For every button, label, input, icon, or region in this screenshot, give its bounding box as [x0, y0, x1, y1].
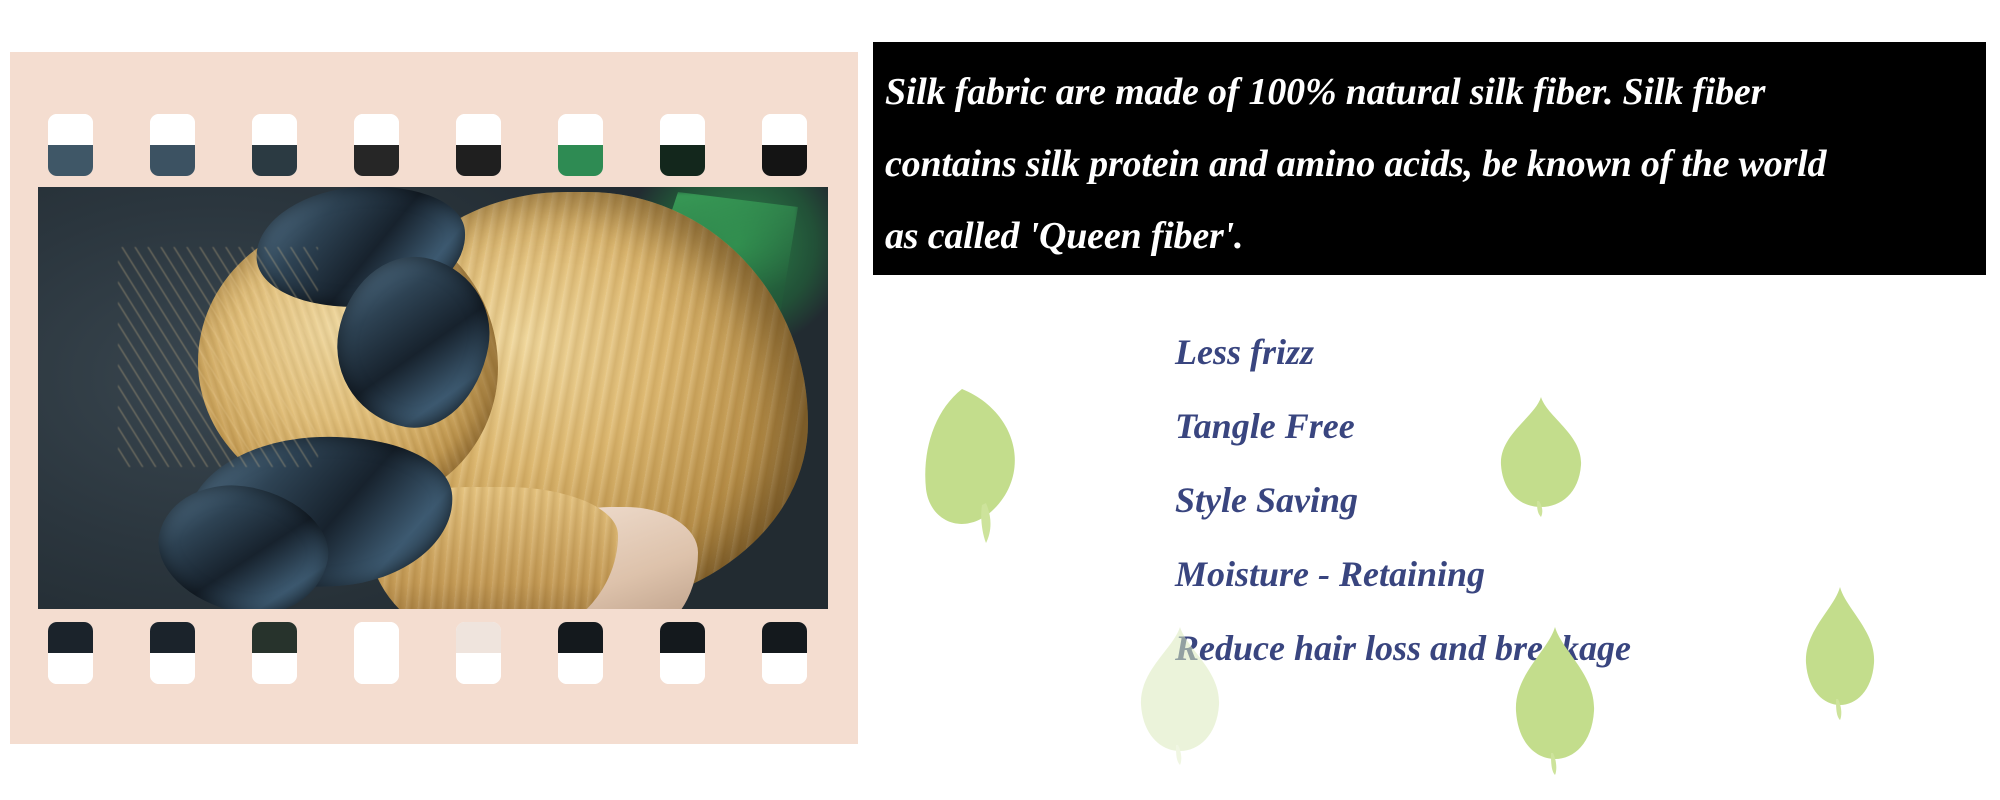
film-sprocket-row-top [10, 114, 858, 176]
product-photo [38, 187, 828, 609]
leaf-icon [1800, 585, 1880, 720]
film-sprocket-hole [558, 622, 603, 684]
promo-banner: Silk fabric are made of 100% natural sil… [0, 0, 2000, 800]
benefit-item-style-saving: Style Saving [1175, 463, 1795, 537]
film-strip-frame [10, 52, 858, 744]
film-sprocket-hole [252, 114, 297, 176]
intro-line: as called 'Queen fiber'. [885, 200, 1964, 272]
film-sprocket-hole [762, 114, 807, 176]
film-sprocket-hole [252, 622, 297, 684]
benefit-item-moisture-retaining: Moisture - Retaining [1175, 537, 1795, 611]
film-sprocket-hole [456, 114, 501, 176]
film-sprocket-row-bottom [10, 622, 858, 684]
film-sprocket-hole [558, 114, 603, 176]
leaf-icon [920, 385, 1040, 545]
film-sprocket-hole [660, 622, 705, 684]
benefit-item-less-frizz: Less frizz [1175, 315, 1795, 389]
intro-line: Silk fabric are made of 100% natural sil… [885, 56, 1964, 128]
intro-line: contains silk protein and amino acids, b… [885, 128, 1964, 200]
film-sprocket-hole [48, 622, 93, 684]
film-sprocket-hole [660, 114, 705, 176]
film-sprocket-hole [150, 622, 195, 684]
film-sprocket-hole [150, 114, 195, 176]
intro-text-panel: Silk fabric are made of 100% natural sil… [873, 42, 1986, 275]
film-sprocket-hole [354, 114, 399, 176]
benefits-list: Less frizz Tangle Free Style Saving Mois… [1175, 315, 1795, 685]
film-sprocket-hole [48, 114, 93, 176]
photo-hair-strands [118, 247, 318, 467]
benefit-item-tangle-free: Tangle Free [1175, 389, 1795, 463]
film-sprocket-hole [456, 622, 501, 684]
film-sprocket-hole [354, 622, 399, 684]
film-sprocket-hole [762, 622, 807, 684]
benefit-item-reduce-hair-loss: Reduce hair loss and breakage [1175, 611, 1795, 685]
